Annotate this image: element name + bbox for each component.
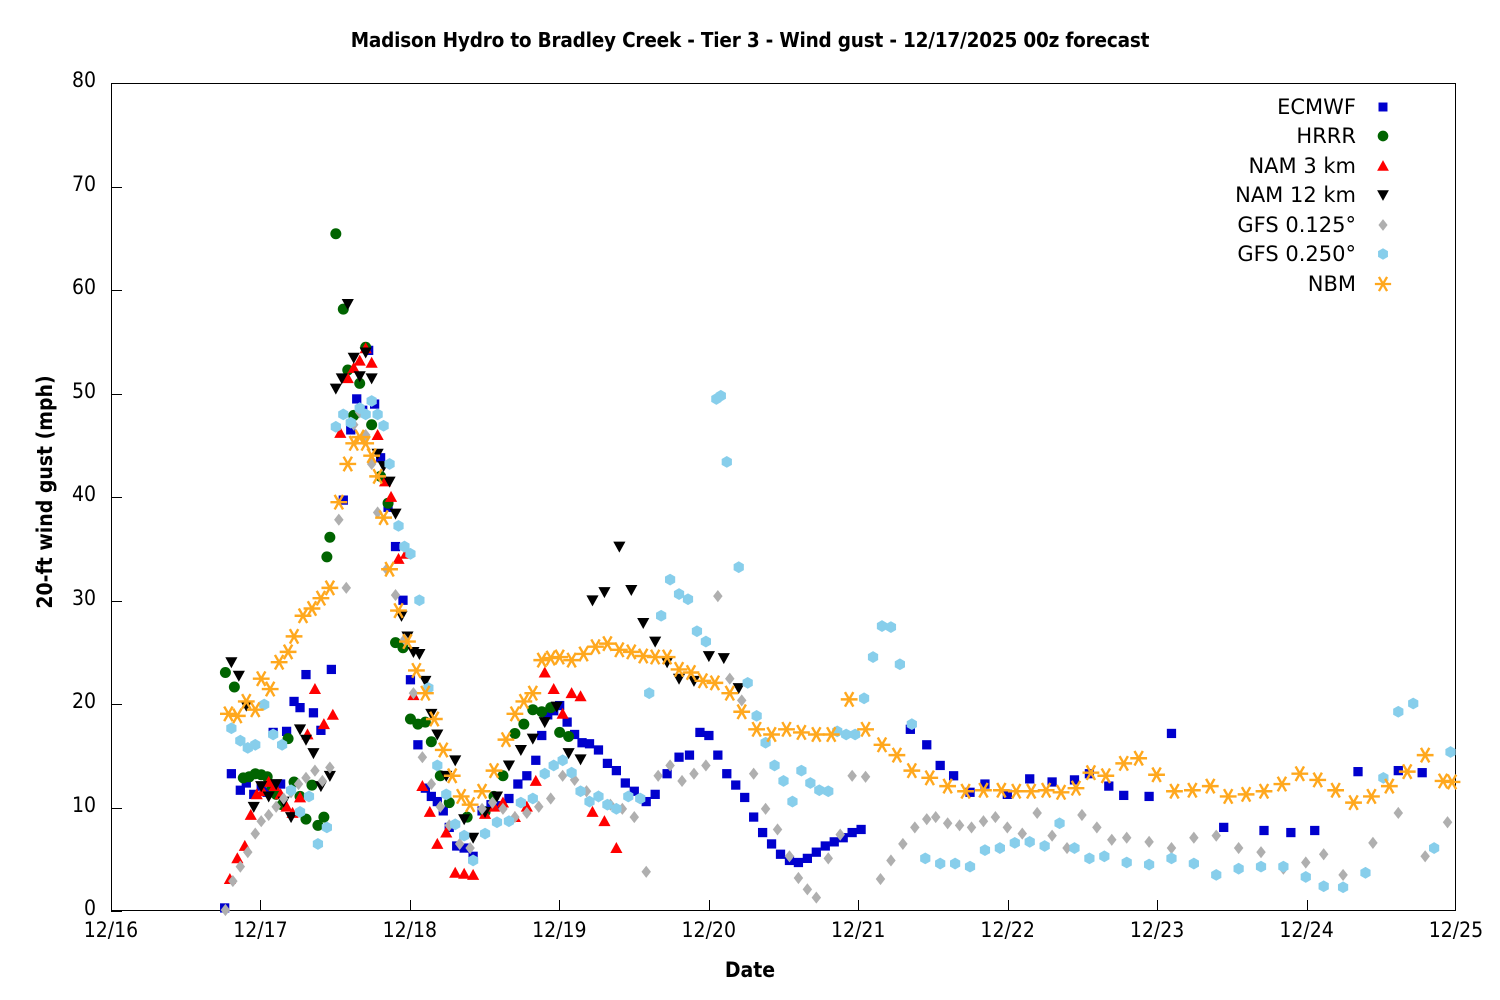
data-point bbox=[812, 892, 821, 904]
data-point bbox=[366, 357, 378, 368]
data-point bbox=[886, 621, 896, 633]
data-point bbox=[515, 745, 527, 756]
data-point bbox=[713, 590, 722, 602]
x-tick-label: 12/23 bbox=[1087, 918, 1227, 942]
data-point bbox=[612, 766, 621, 775]
data-point bbox=[1054, 817, 1064, 829]
data-point bbox=[625, 585, 637, 596]
data-point bbox=[1040, 840, 1050, 852]
data-point bbox=[548, 683, 560, 694]
data-point bbox=[1345, 795, 1362, 810]
data-point bbox=[848, 828, 857, 837]
data-point bbox=[674, 753, 683, 762]
data-point bbox=[1238, 787, 1255, 802]
data-point bbox=[1368, 837, 1377, 849]
data-point bbox=[787, 796, 797, 808]
data-point bbox=[546, 792, 555, 804]
legend-label: ECMWF bbox=[1277, 95, 1356, 119]
data-point bbox=[1144, 859, 1154, 871]
data-point bbox=[651, 790, 660, 799]
data-point bbox=[722, 769, 731, 778]
data-point bbox=[935, 858, 945, 870]
x-tick-label: 12/21 bbox=[788, 918, 928, 942]
data-point bbox=[653, 770, 662, 782]
data-point bbox=[1119, 791, 1128, 800]
data-point bbox=[740, 793, 749, 802]
data-point bbox=[649, 637, 661, 648]
data-point bbox=[794, 858, 803, 867]
data-point bbox=[413, 740, 422, 749]
data-point bbox=[701, 759, 710, 771]
legend-marker-triangle-down-icon bbox=[1366, 184, 1400, 206]
data-point bbox=[1189, 832, 1198, 844]
data-point bbox=[1301, 856, 1310, 868]
data-point bbox=[366, 373, 378, 384]
data-point bbox=[805, 777, 815, 789]
series-nam-12-km bbox=[225, 299, 745, 844]
data-point bbox=[300, 735, 312, 746]
legend-label: GFS 0.125° bbox=[1237, 213, 1356, 237]
data-point bbox=[603, 759, 612, 768]
data-point bbox=[778, 722, 795, 737]
data-point bbox=[449, 755, 461, 766]
data-point bbox=[713, 750, 722, 759]
data-point bbox=[752, 710, 762, 722]
data-point bbox=[1301, 871, 1311, 883]
data-point bbox=[540, 768, 550, 780]
data-point bbox=[1445, 746, 1455, 758]
data-point bbox=[587, 639, 604, 654]
data-point bbox=[229, 681, 240, 692]
data-point bbox=[558, 754, 568, 766]
data-point bbox=[1023, 784, 1040, 799]
data-point bbox=[921, 771, 938, 786]
data-point bbox=[384, 458, 394, 470]
data-point bbox=[903, 763, 920, 778]
data-point bbox=[1077, 809, 1086, 821]
data-point bbox=[895, 658, 905, 670]
data-point bbox=[794, 872, 803, 884]
data-point bbox=[886, 854, 895, 866]
data-point bbox=[330, 384, 342, 395]
data-point bbox=[1032, 807, 1041, 819]
data-point bbox=[874, 738, 891, 753]
data-point bbox=[1053, 785, 1070, 800]
data-point bbox=[531, 756, 540, 765]
data-point bbox=[1107, 834, 1116, 846]
data-point bbox=[1184, 783, 1201, 798]
data-point bbox=[286, 629, 303, 644]
data-point bbox=[598, 587, 610, 598]
data-point bbox=[1189, 858, 1199, 870]
y-tick-label: 40 bbox=[16, 482, 96, 506]
data-point bbox=[613, 542, 625, 553]
data-point bbox=[309, 683, 321, 694]
data-point bbox=[761, 803, 770, 815]
data-point bbox=[1394, 807, 1403, 819]
legend-item-gfs-0-250[interactable]: GFS 0.250° bbox=[1150, 240, 1400, 270]
data-point bbox=[1166, 852, 1176, 864]
data-point bbox=[1256, 846, 1265, 858]
legend-label: NAM 3 km bbox=[1248, 154, 1356, 178]
data-point bbox=[767, 839, 776, 848]
data-point bbox=[539, 666, 551, 677]
data-point bbox=[683, 593, 693, 605]
data-point bbox=[793, 725, 810, 740]
data-point bbox=[758, 828, 767, 837]
data-point bbox=[706, 676, 723, 691]
data-point bbox=[778, 775, 788, 787]
data-point bbox=[418, 751, 427, 763]
data-point bbox=[1418, 768, 1427, 777]
legend-item-nbm[interactable]: NBM bbox=[1150, 269, 1400, 299]
data-point bbox=[1319, 880, 1329, 892]
data-point bbox=[1122, 832, 1131, 844]
data-point bbox=[1167, 729, 1176, 738]
data-point bbox=[231, 852, 243, 863]
data-point bbox=[743, 677, 753, 689]
data-point bbox=[226, 722, 236, 734]
data-point bbox=[574, 754, 586, 765]
data-point bbox=[1234, 842, 1243, 854]
data-point bbox=[665, 574, 675, 586]
data-point bbox=[841, 729, 851, 741]
legend-item-nam-12-km[interactable]: NAM 12 km bbox=[1150, 181, 1400, 211]
legend: ECMWFHRRRNAM 3 kmNAM 12 kmGFS 0.125°GFS … bbox=[1150, 92, 1400, 299]
legend-marker-square-icon bbox=[1366, 96, 1400, 118]
data-point bbox=[877, 620, 887, 632]
data-point bbox=[1291, 766, 1308, 781]
data-point bbox=[967, 821, 976, 833]
data-point bbox=[1417, 748, 1434, 763]
data-point bbox=[497, 770, 508, 781]
data-point bbox=[339, 457, 356, 472]
data-point bbox=[965, 861, 975, 873]
data-point bbox=[748, 722, 765, 737]
data-point bbox=[294, 724, 306, 735]
data-point bbox=[566, 687, 578, 698]
data-point bbox=[922, 813, 931, 825]
data-point bbox=[980, 844, 990, 856]
data-point bbox=[718, 653, 730, 664]
x-tick-label: 12/22 bbox=[938, 918, 1078, 942]
data-point bbox=[823, 785, 833, 797]
data-point bbox=[562, 717, 571, 726]
data-point bbox=[847, 770, 856, 782]
data-point bbox=[656, 610, 666, 622]
legend-item-ecmwf[interactable]: ECMWF bbox=[1150, 92, 1400, 122]
y-tick-label: 50 bbox=[16, 379, 96, 403]
data-point bbox=[1084, 852, 1094, 864]
data-point bbox=[327, 665, 336, 674]
data-point bbox=[431, 838, 443, 849]
data-point bbox=[868, 651, 878, 663]
data-point bbox=[1393, 706, 1403, 718]
data-point bbox=[539, 717, 551, 728]
data-point bbox=[458, 868, 470, 879]
data-point bbox=[910, 821, 919, 833]
x-axis-label: Date bbox=[0, 958, 1500, 982]
data-point bbox=[734, 561, 744, 573]
data-point bbox=[677, 775, 686, 787]
data-point bbox=[318, 812, 329, 823]
data-point bbox=[859, 692, 869, 704]
data-point bbox=[1167, 842, 1176, 854]
series-ecmwf bbox=[220, 346, 1427, 913]
data-point bbox=[391, 542, 400, 551]
data-point bbox=[1363, 789, 1380, 804]
data-point bbox=[1069, 842, 1079, 854]
data-point bbox=[414, 594, 424, 606]
legend-marker-star-icon bbox=[1366, 273, 1400, 295]
legend-label: HRRR bbox=[1296, 124, 1356, 148]
data-point bbox=[426, 736, 437, 747]
data-point bbox=[549, 760, 559, 772]
x-tick-label: 12/24 bbox=[1237, 918, 1377, 942]
data-point bbox=[352, 394, 361, 403]
data-point bbox=[467, 869, 479, 880]
data-point bbox=[733, 704, 750, 719]
data-point bbox=[630, 811, 639, 823]
data-point bbox=[248, 802, 260, 813]
data-point bbox=[920, 852, 930, 864]
data-point bbox=[225, 657, 237, 668]
data-point bbox=[821, 841, 830, 850]
data-point bbox=[689, 768, 698, 780]
data-point bbox=[227, 769, 236, 778]
data-point bbox=[342, 582, 351, 594]
data-point bbox=[898, 838, 907, 850]
data-point bbox=[808, 727, 825, 742]
data-point bbox=[251, 828, 260, 840]
data-point bbox=[593, 791, 603, 803]
data-point bbox=[563, 731, 574, 742]
data-point bbox=[1092, 821, 1101, 833]
data-point bbox=[586, 595, 598, 606]
data-point bbox=[1122, 857, 1132, 869]
data-point bbox=[621, 778, 630, 787]
data-point bbox=[776, 850, 785, 859]
legend-label: NAM 12 km bbox=[1235, 183, 1356, 207]
data-point bbox=[432, 760, 442, 772]
data-point bbox=[950, 858, 960, 870]
data-point bbox=[366, 419, 377, 430]
data-point bbox=[492, 816, 502, 828]
data-point bbox=[372, 408, 382, 420]
data-point bbox=[803, 854, 812, 863]
legend-marker-circle-icon bbox=[1366, 125, 1400, 147]
data-point bbox=[1274, 777, 1291, 792]
data-point bbox=[385, 491, 397, 502]
data-point bbox=[1234, 863, 1244, 875]
data-point bbox=[644, 687, 654, 699]
data-point bbox=[1353, 767, 1362, 776]
data-point bbox=[856, 825, 865, 834]
data-point bbox=[322, 821, 332, 833]
data-point bbox=[220, 667, 231, 678]
data-point bbox=[575, 785, 585, 797]
data-point bbox=[474, 784, 491, 799]
legend-item-nam-3-km[interactable]: NAM 3 km bbox=[1150, 151, 1400, 181]
data-point bbox=[725, 673, 734, 685]
data-point bbox=[695, 728, 704, 737]
data-point bbox=[1278, 861, 1288, 873]
data-point bbox=[704, 731, 713, 740]
data-point bbox=[304, 791, 314, 803]
legend-item-gfs-0-125[interactable]: GFS 0.125° bbox=[1150, 210, 1400, 240]
data-point bbox=[637, 618, 649, 629]
data-point bbox=[1256, 784, 1273, 799]
data-point bbox=[939, 779, 956, 794]
legend-marker-hexagon-icon bbox=[1366, 243, 1400, 265]
data-point bbox=[685, 750, 694, 759]
data-point bbox=[955, 819, 964, 831]
data-point bbox=[1144, 836, 1153, 848]
data-point bbox=[812, 848, 821, 857]
data-point bbox=[558, 770, 567, 782]
data-point bbox=[1259, 826, 1268, 835]
data-point bbox=[245, 809, 257, 820]
y-tick-label: 0 bbox=[16, 896, 96, 920]
data-point bbox=[1338, 869, 1347, 881]
data-point bbox=[931, 811, 940, 823]
data-point bbox=[936, 761, 945, 770]
data-point bbox=[1310, 826, 1319, 835]
x-tick-label: 12/17 bbox=[190, 918, 330, 942]
data-point bbox=[1099, 850, 1109, 862]
data-point bbox=[692, 625, 702, 637]
data-point bbox=[1018, 828, 1027, 840]
data-point bbox=[1256, 861, 1266, 873]
data-point bbox=[749, 812, 758, 821]
y-tick-label: 30 bbox=[16, 586, 96, 610]
legend-label: NBM bbox=[1308, 272, 1356, 296]
data-point bbox=[598, 815, 610, 826]
data-point bbox=[1010, 837, 1020, 849]
data-point bbox=[594, 745, 603, 754]
data-point bbox=[1319, 848, 1328, 860]
data-point bbox=[313, 838, 323, 850]
data-point bbox=[749, 768, 758, 780]
y-tick-label: 60 bbox=[16, 275, 96, 299]
data-point bbox=[824, 852, 833, 864]
data-point bbox=[1360, 867, 1370, 879]
data-point bbox=[979, 815, 988, 827]
x-tick-label: 12/19 bbox=[489, 918, 629, 942]
data-point bbox=[943, 817, 952, 829]
data-point bbox=[861, 771, 870, 783]
data-point bbox=[1220, 789, 1237, 804]
data-point bbox=[338, 408, 348, 420]
y-tick-label: 70 bbox=[16, 172, 96, 196]
legend-marker-triangle-up-icon bbox=[1366, 155, 1400, 177]
data-point bbox=[537, 731, 546, 740]
data-point bbox=[841, 692, 858, 707]
data-point bbox=[889, 748, 906, 763]
data-point bbox=[814, 784, 824, 796]
data-point bbox=[1047, 830, 1056, 842]
y-tick-label: 10 bbox=[16, 793, 96, 817]
data-point bbox=[1429, 842, 1439, 854]
data-point bbox=[424, 806, 436, 817]
data-point bbox=[264, 809, 273, 821]
data-point bbox=[1025, 836, 1035, 848]
data-point bbox=[509, 728, 520, 739]
data-point bbox=[731, 780, 740, 789]
data-point bbox=[480, 828, 490, 840]
data-point bbox=[1408, 698, 1418, 710]
data-point bbox=[585, 739, 594, 748]
data-point bbox=[1219, 823, 1228, 832]
data-point bbox=[527, 734, 539, 745]
chart-title: Madison Hydro to Bradley Creek - Tier 3 … bbox=[0, 28, 1500, 52]
data-point bbox=[1420, 850, 1429, 862]
data-point bbox=[610, 842, 622, 853]
data-point bbox=[449, 867, 461, 878]
data-point bbox=[830, 837, 839, 846]
data-point bbox=[307, 748, 319, 759]
data-point bbox=[327, 709, 339, 720]
data-point bbox=[1327, 783, 1344, 798]
data-point bbox=[1003, 821, 1012, 833]
data-point bbox=[1443, 816, 1452, 828]
data-point bbox=[1144, 792, 1153, 801]
data-point bbox=[381, 562, 398, 577]
data-point bbox=[991, 811, 1000, 823]
data-point bbox=[435, 743, 452, 758]
data-point bbox=[1025, 774, 1034, 783]
data-point bbox=[586, 806, 598, 817]
y-tick-label: 80 bbox=[16, 68, 96, 92]
data-point bbox=[522, 771, 531, 780]
data-point bbox=[803, 883, 812, 895]
x-tick-label: 12/16 bbox=[41, 918, 181, 942]
data-point bbox=[995, 842, 1005, 854]
data-point bbox=[922, 740, 931, 749]
data-point bbox=[324, 532, 335, 543]
legend-item-hrrr[interactable]: HRRR bbox=[1150, 122, 1400, 152]
data-point bbox=[584, 796, 594, 808]
data-point bbox=[701, 636, 711, 648]
data-point bbox=[330, 228, 341, 239]
data-point bbox=[722, 456, 732, 468]
data-point bbox=[1202, 779, 1219, 794]
y-tick-mark bbox=[111, 911, 122, 912]
series-nbm bbox=[220, 430, 1460, 812]
data-point bbox=[393, 520, 403, 532]
legend-label: GFS 0.250° bbox=[1237, 242, 1356, 266]
data-point bbox=[1309, 773, 1326, 788]
data-point bbox=[641, 866, 650, 878]
figure: Madison Hydro to Bradley Creek - Tier 3 … bbox=[0, 0, 1500, 1000]
data-point bbox=[321, 551, 332, 562]
data-point bbox=[295, 703, 304, 712]
legend-marker-diamond-icon bbox=[1366, 214, 1400, 236]
data-point bbox=[773, 823, 782, 835]
data-point bbox=[1130, 751, 1147, 766]
y-tick-label: 20 bbox=[16, 689, 96, 713]
data-point bbox=[309, 708, 318, 717]
data-point bbox=[769, 760, 779, 772]
data-point bbox=[1166, 784, 1183, 799]
data-point bbox=[334, 514, 343, 526]
data-point bbox=[1338, 881, 1348, 893]
x-tick-label: 12/25 bbox=[1386, 918, 1500, 942]
data-point bbox=[310, 765, 319, 777]
data-point bbox=[796, 765, 806, 777]
data-point bbox=[301, 670, 310, 679]
data-point bbox=[1286, 828, 1295, 837]
